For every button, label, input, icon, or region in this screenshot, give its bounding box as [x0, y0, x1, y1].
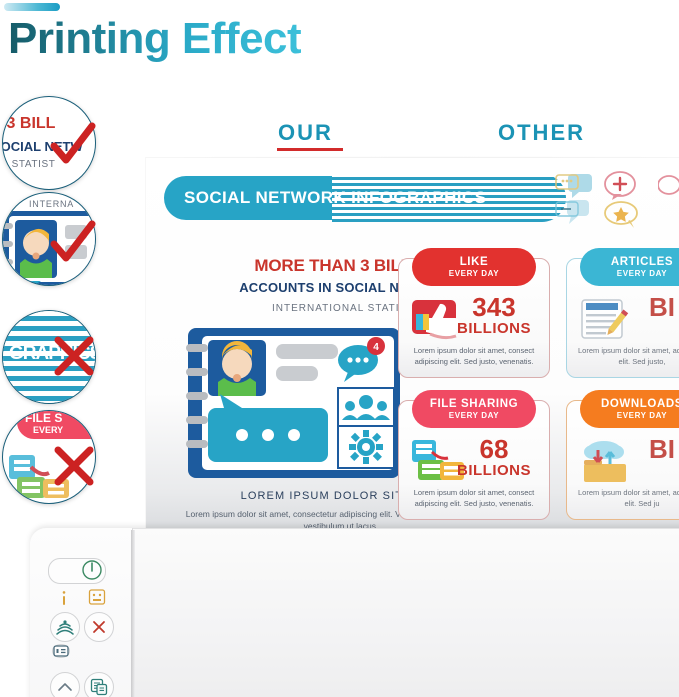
- callout-text-sub: INTERNA: [29, 199, 74, 209]
- card-pill-sub: EVERY DAY: [617, 268, 667, 279]
- card-pill: LIKE EVERY DAY: [412, 248, 536, 286]
- card-description: Lorem ipsum dolor sit amet, adipiscing e…: [574, 346, 679, 367]
- wifi-button[interactable]: [50, 612, 80, 642]
- card-value: 68: [448, 436, 540, 462]
- card-pill-title: ARTICLES: [611, 256, 673, 268]
- card-pill-title: LIKE: [460, 256, 489, 268]
- add-bubble-icon: [602, 170, 642, 200]
- card-pill-sub: EVERY DAY: [449, 268, 499, 279]
- banner-title: SOCIAL NETWORK INFOGRAPHICS: [184, 188, 584, 208]
- cross-mark-icon-1: [48, 330, 100, 382]
- stat-card-downloads: DOWNLOADS EVERY DAY BI Lorem ipsum dolor…: [566, 390, 679, 518]
- printing-effect-comparison: Printing Effect OUR OTHER SOCIAL NETWORK…: [0, 0, 679, 697]
- card-description: Lorem ipsum dolor sit amet, consect adip…: [406, 346, 542, 367]
- chat-bubble-icon-2: [554, 198, 594, 226]
- up-button[interactable]: [50, 672, 80, 697]
- printed-sheet: SOCIAL NETWORK INFOGRAPHICS: [146, 158, 679, 538]
- accent-bar: [4, 3, 60, 11]
- copy-button[interactable]: [84, 672, 114, 697]
- card-pill: DOWNLOADS EVERY DAY: [580, 390, 679, 428]
- contact-notebook-illustration: 4: [186, 326, 402, 480]
- our-underline: [277, 148, 343, 151]
- stat-card-like: LIKE EVERY DAY 343 BILLIONS Lorem ipsum …: [398, 248, 550, 376]
- callout-text-red: FILE S: [25, 411, 62, 425]
- info-icon: [58, 590, 70, 606]
- stat-card-articles: ARTICLES EVERY DAY: [566, 248, 679, 376]
- svg-text:4: 4: [373, 342, 379, 353]
- bubble-icon-group: [554, 170, 679, 230]
- power-icon: [81, 559, 103, 581]
- card-description: Lorem ipsum dolor sit amet, consect adip…: [406, 488, 542, 509]
- chat-bubble-icon-3: [658, 174, 679, 198]
- copy-icon: [90, 678, 108, 696]
- display-icon: [53, 645, 69, 657]
- chat-bubble-icon-1: [554, 172, 594, 198]
- power-button[interactable]: [48, 558, 106, 584]
- printer-control-panel: [30, 528, 133, 697]
- card-unit: BILLIONS: [448, 462, 540, 479]
- column-label-other: OTHER: [498, 120, 585, 146]
- check-mark-icon-2: [46, 216, 98, 268]
- cross-mark-icon-2: [48, 440, 100, 492]
- cancel-button[interactable]: [84, 612, 114, 642]
- card-pill-sub: EVERY DAY: [449, 410, 499, 421]
- ink-cartridge-icon: [88, 588, 106, 606]
- callout-text-sub: EVERY: [33, 425, 63, 435]
- card-value: BI: [616, 294, 679, 320]
- card-value: BI: [616, 436, 679, 462]
- display-button[interactable]: [52, 644, 70, 658]
- ink-status-button[interactable]: [88, 588, 106, 606]
- column-label-our: OUR: [278, 120, 333, 146]
- wifi-icon: [56, 619, 74, 635]
- card-unit: BILLIONS: [448, 320, 540, 337]
- chevron-up-icon: [57, 681, 73, 693]
- stat-card-file-sharing: FILE SHARING EVERY DAY 68 BILLIONS Lorem…: [398, 390, 550, 518]
- card-pill-title: FILE SHARING: [430, 398, 518, 410]
- card-pill: FILE SHARING EVERY DAY: [412, 390, 536, 428]
- printer-seam: [131, 530, 135, 697]
- info-button[interactable]: [56, 590, 72, 606]
- card-value: 343: [448, 294, 540, 320]
- close-icon: [91, 619, 107, 635]
- card-description: Lorem ipsum dolor sit amet, adipiscing e…: [574, 488, 679, 509]
- favorite-bubble-icon: [602, 200, 646, 230]
- card-pill-title: DOWNLOADS: [601, 398, 679, 410]
- card-pill: ARTICLES EVERY DAY: [580, 248, 679, 286]
- page-title: Printing Effect: [8, 14, 301, 64]
- card-pill-sub: EVERY DAY: [617, 410, 667, 421]
- check-mark-icon-1: [46, 118, 98, 170]
